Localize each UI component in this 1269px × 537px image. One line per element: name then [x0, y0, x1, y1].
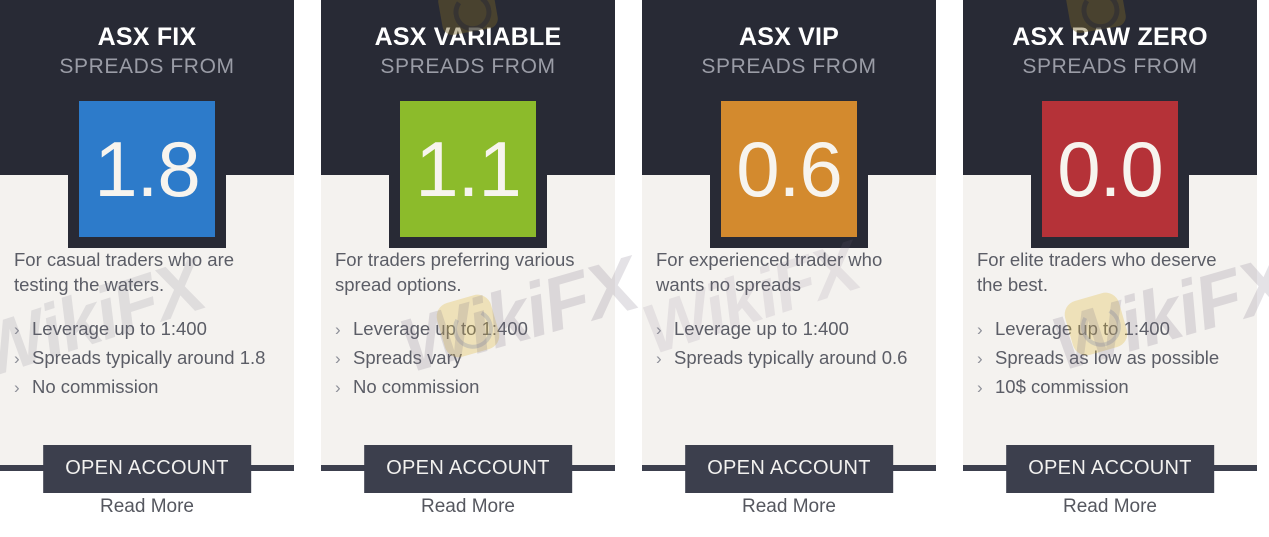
card-footer: OPEN ACCOUNT Read More — [0, 465, 294, 537]
feature-list: ›Leverage up to 1:400›Spreads typically … — [14, 315, 280, 402]
feature-item: ›Leverage up to 1:400 — [335, 315, 601, 344]
spread-value: 1.1 — [415, 130, 520, 208]
spread-badge: 1.8 — [79, 101, 215, 237]
open-account-button[interactable]: OPEN ACCOUNT — [43, 445, 251, 493]
chevron-right-icon: › — [14, 316, 32, 344]
card-description: For traders preferring various spread op… — [335, 247, 601, 297]
card-subtitle: SPREADS FROM — [0, 53, 294, 81]
pricing-plans-page: WikiFX WikiFX WikiFX WikiFX ASX FIX SPRE… — [0, 0, 1269, 537]
pricing-card-1: ASX FIX SPREADS FROM 1.8 For casual trad… — [0, 0, 294, 537]
card-subtitle: SPREADS FROM — [321, 53, 615, 81]
spread-badge: 1.1 — [400, 101, 536, 237]
feature-item: ›Spreads vary — [335, 344, 601, 373]
feature-list: ›Leverage up to 1:400›Spreads vary›No co… — [335, 315, 601, 402]
card-title: ASX RAW ZERO — [963, 22, 1257, 52]
feature-item: ›Spreads typically around 0.6 — [656, 344, 922, 373]
feature-label: 10$ commission — [995, 373, 1129, 401]
feature-list: ›Leverage up to 1:400›Spreads as low as … — [977, 315, 1243, 402]
card-description: For experienced trader who wants no spre… — [656, 247, 922, 297]
chevron-right-icon: › — [977, 345, 995, 373]
spread-badge: 0.6 — [721, 101, 857, 237]
spread-badge-frame: 0.6 — [710, 90, 868, 248]
feature-label: Spreads typically around 1.8 — [32, 344, 265, 372]
feature-label: Leverage up to 1:400 — [674, 315, 849, 343]
card-footer: OPEN ACCOUNT Read More — [642, 465, 936, 537]
pricing-card-3: ASX VIP SPREADS FROM 0.6 For experienced… — [642, 0, 936, 537]
card-description: For casual traders who are testing the w… — [14, 247, 280, 297]
spread-value: 0.6 — [736, 130, 841, 208]
feature-item: ›Spreads typically around 1.8 — [14, 344, 280, 373]
feature-item: ›Leverage up to 1:400 — [14, 315, 280, 344]
pricing-card-4: ASX RAW ZERO SPREADS FROM 0.0 For elite … — [963, 0, 1257, 537]
feature-item: ›Leverage up to 1:400 — [656, 315, 922, 344]
chevron-right-icon: › — [14, 374, 32, 402]
pricing-card-list: ASX FIX SPREADS FROM 1.8 For casual trad… — [0, 0, 1269, 537]
read-more-link[interactable]: Read More — [642, 496, 936, 518]
feature-label: Spreads as low as possible — [995, 344, 1219, 372]
feature-label: No commission — [32, 373, 158, 401]
feature-item: ›10$ commission — [977, 373, 1243, 402]
card-title: ASX VARIABLE — [321, 22, 615, 52]
read-more-link[interactable]: Read More — [321, 496, 615, 518]
chevron-right-icon: › — [335, 316, 353, 344]
spread-badge-frame: 1.8 — [68, 90, 226, 248]
card-description: For elite traders who deserve the best. — [977, 247, 1243, 297]
feature-label: Spreads vary — [353, 344, 462, 372]
feature-label: No commission — [353, 373, 479, 401]
feature-label: Leverage up to 1:400 — [32, 315, 207, 343]
spread-badge-frame: 1.1 — [389, 90, 547, 248]
card-title: ASX VIP — [642, 22, 936, 52]
feature-item: ›No commission — [335, 373, 601, 402]
chevron-right-icon: › — [656, 316, 674, 344]
feature-item: ›No commission — [14, 373, 280, 402]
card-title: ASX FIX — [0, 22, 294, 52]
card-footer: OPEN ACCOUNT Read More — [963, 465, 1257, 537]
chevron-right-icon: › — [656, 345, 674, 373]
read-more-link[interactable]: Read More — [0, 496, 294, 518]
chevron-right-icon: › — [977, 374, 995, 402]
open-account-button[interactable]: OPEN ACCOUNT — [685, 445, 893, 493]
open-account-button[interactable]: OPEN ACCOUNT — [1006, 445, 1214, 493]
card-subtitle: SPREADS FROM — [642, 53, 936, 81]
feature-label: Leverage up to 1:400 — [353, 315, 528, 343]
feature-list: ›Leverage up to 1:400›Spreads typically … — [656, 315, 922, 373]
chevron-right-icon: › — [335, 345, 353, 373]
card-footer: OPEN ACCOUNT Read More — [321, 465, 615, 537]
chevron-right-icon: › — [335, 374, 353, 402]
feature-item: ›Spreads as low as possible — [977, 344, 1243, 373]
feature-label: Spreads typically around 0.6 — [674, 344, 907, 372]
pricing-card-2: ASX VARIABLE SPREADS FROM 1.1 For trader… — [321, 0, 615, 537]
spread-value: 1.8 — [94, 130, 199, 208]
chevron-right-icon: › — [977, 316, 995, 344]
open-account-button[interactable]: OPEN ACCOUNT — [364, 445, 572, 493]
read-more-link[interactable]: Read More — [963, 496, 1257, 518]
chevron-right-icon: › — [14, 345, 32, 373]
feature-label: Leverage up to 1:400 — [995, 315, 1170, 343]
spread-value: 0.0 — [1057, 130, 1162, 208]
feature-item: ›Leverage up to 1:400 — [977, 315, 1243, 344]
spread-badge-frame: 0.0 — [1031, 90, 1189, 248]
spread-badge: 0.0 — [1042, 101, 1178, 237]
card-subtitle: SPREADS FROM — [963, 53, 1257, 81]
